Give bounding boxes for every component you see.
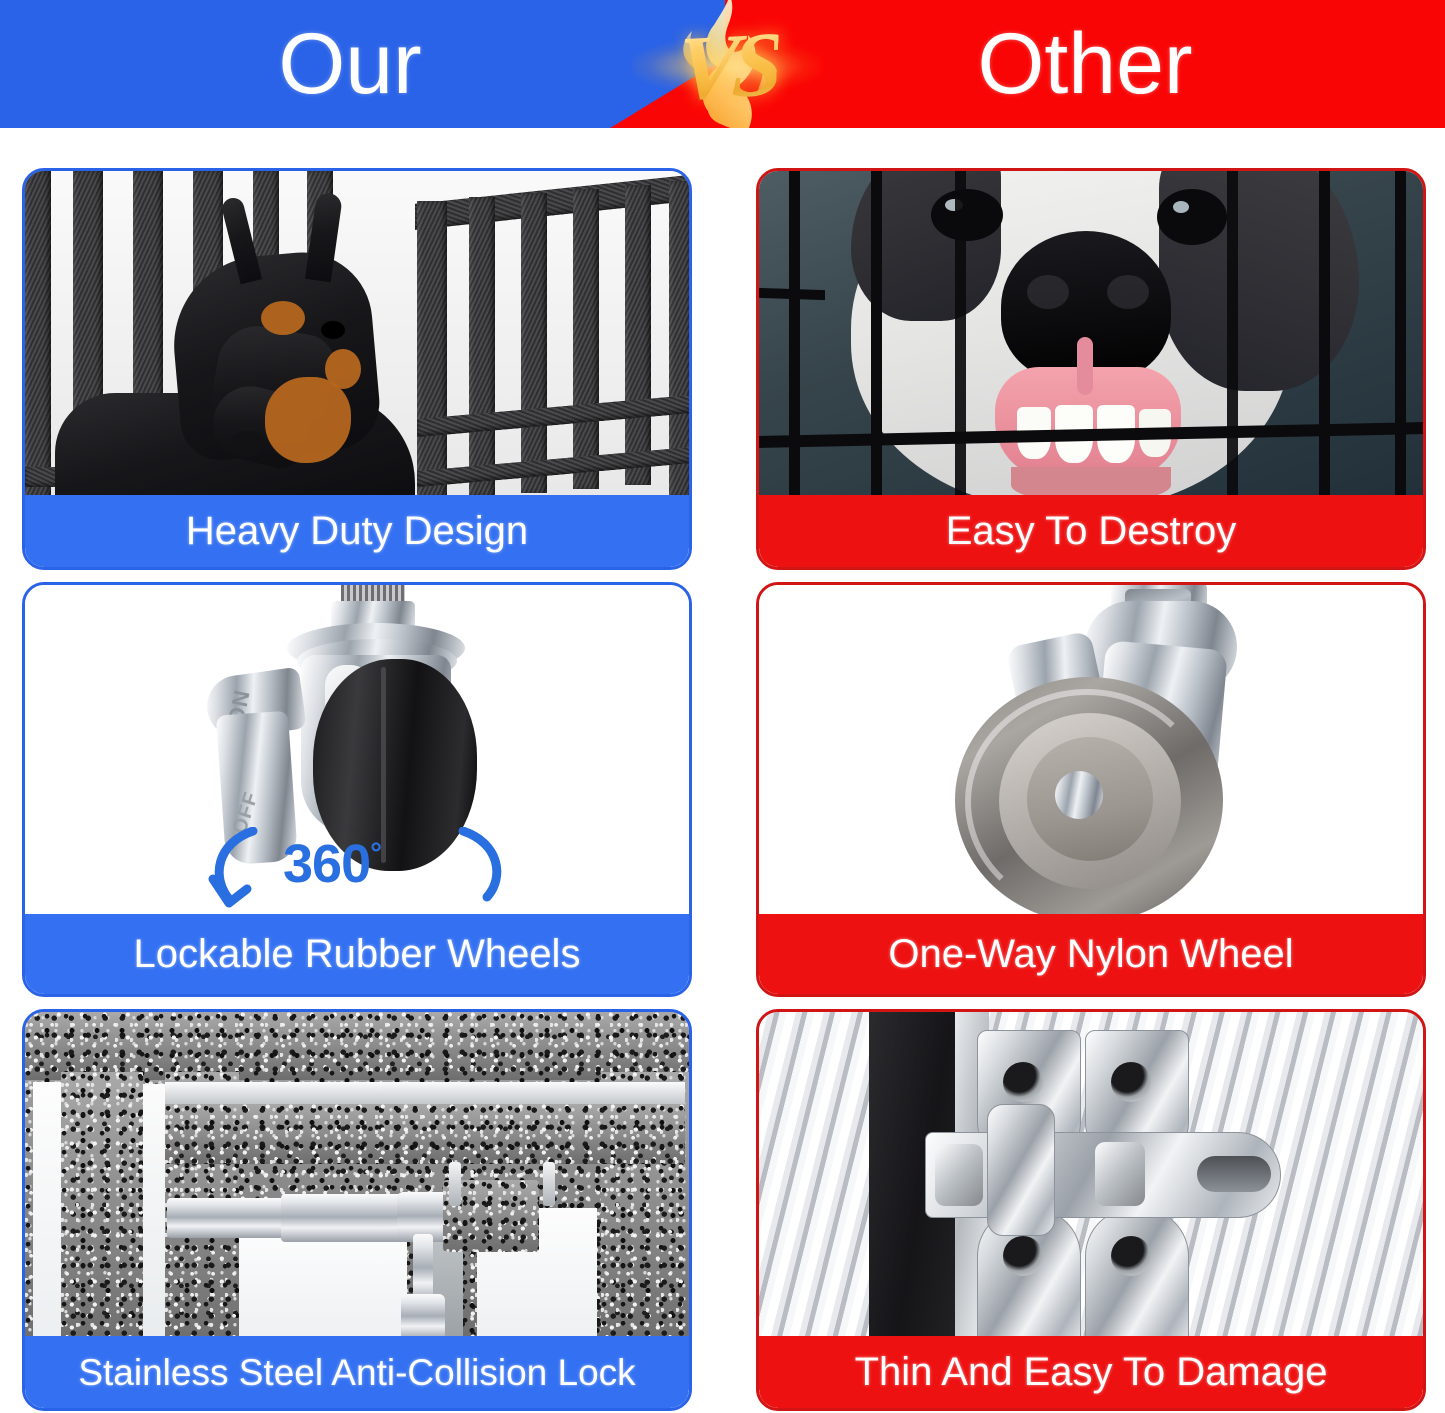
nylon-caster-photo	[759, 585, 1423, 914]
header-our-label: Our	[0, 0, 700, 128]
panel-anti-collision-lock: Stainless Steel Anti-Collision Lock	[22, 1009, 692, 1411]
caption-heavy-duty-design: Heavy Duty Design	[25, 495, 689, 567]
panel-image-heavy-duty	[25, 171, 689, 495]
husky-biting-cage-photo	[759, 171, 1423, 495]
panel-image-lockable-wheel: ON OFF 360°	[25, 585, 689, 914]
panel-image-easy-to-destroy	[759, 171, 1423, 495]
panel-heavy-duty-design: Heavy Duty Design	[22, 168, 692, 570]
comparison-grid: Heavy Duty Design	[0, 128, 1445, 1413]
caption-anti-collision-lock: Stainless Steel Anti-Collision Lock	[25, 1336, 689, 1408]
thin-latch-photo	[759, 1012, 1423, 1336]
rotation-degree-label: 360°	[283, 837, 381, 891]
panel-one-way-nylon-wheel: One-Way Nylon Wheel	[756, 582, 1426, 997]
panel-image-nylon-wheel	[759, 585, 1423, 914]
comparison-header: Our Other VS	[0, 0, 1445, 128]
panel-image-anti-collision-lock	[25, 1012, 689, 1336]
caption-easy-to-destroy: Easy To Destroy	[759, 495, 1423, 567]
panel-lockable-rubber-wheels: ON OFF 360° Lockable Rubber Wheels	[22, 582, 692, 997]
panel-thin-easy-to-damage: Thin And Easy To Damage	[756, 1009, 1426, 1411]
panel-image-thin-latch	[759, 1012, 1423, 1336]
steel-latch-photo	[25, 1012, 689, 1336]
header-other-label: Other	[725, 0, 1445, 128]
caption-lockable-rubber-wheels: Lockable Rubber Wheels	[25, 914, 689, 994]
lockable-caster-photo: ON OFF 360°	[25, 585, 689, 914]
caption-thin-easy-to-damage: Thin And Easy To Damage	[759, 1336, 1423, 1408]
caption-one-way-nylon-wheel: One-Way Nylon Wheel	[759, 914, 1423, 994]
dog-crate-photo	[25, 171, 689, 495]
panel-easy-to-destroy: Easy To Destroy	[756, 168, 1426, 570]
